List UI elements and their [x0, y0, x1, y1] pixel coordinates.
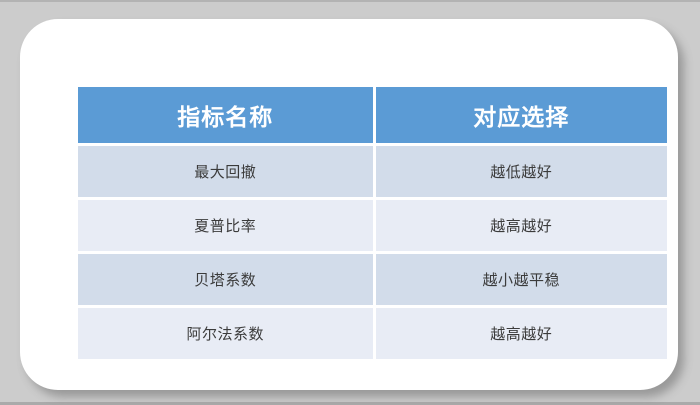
cell-preference: 越高越好 — [376, 308, 668, 359]
column-header-indicator: 指标名称 — [78, 87, 373, 143]
cell-preference: 越低越好 — [376, 146, 668, 197]
indicator-preference-table: 指标名称 对应选择 最大回撤 越低越好 夏普比率 越高越好 贝塔系数 — [78, 87, 667, 362]
table-row: 贝塔系数 越小越平稳 — [78, 254, 667, 305]
cell-indicator: 夏普比率 — [78, 200, 373, 251]
table-row: 夏普比率 越高越好 — [78, 200, 667, 251]
content-card: 指标名称 对应选择 最大回撤 越低越好 夏普比率 越高越好 贝塔系数 — [20, 19, 678, 390]
column-header-preference: 对应选择 — [376, 87, 668, 143]
cell-indicator: 贝塔系数 — [78, 254, 373, 305]
cell-preference: 越小越平稳 — [376, 254, 668, 305]
cell-preference: 越高越好 — [376, 200, 668, 251]
cell-indicator: 最大回撤 — [78, 146, 373, 197]
table-row: 最大回撤 越低越好 — [78, 146, 667, 197]
table-row: 阿尔法系数 越高越好 — [78, 308, 667, 359]
cell-indicator: 阿尔法系数 — [78, 308, 373, 359]
table-header-row: 指标名称 对应选择 — [78, 87, 667, 143]
slide-canvas: 指标名称 对应选择 最大回撤 越低越好 夏普比率 越高越好 贝塔系数 — [0, 0, 700, 405]
